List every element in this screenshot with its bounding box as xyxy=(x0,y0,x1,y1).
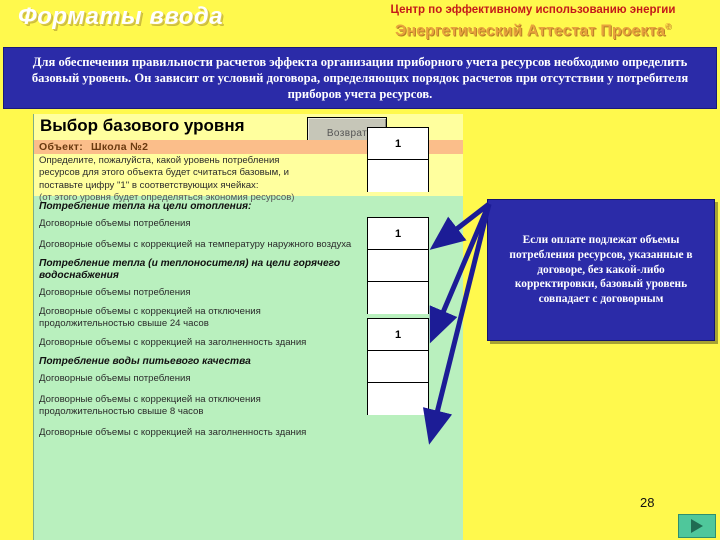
organization-name: Центр по эффективному использованию энер… xyxy=(352,4,714,16)
copyright-icon: © xyxy=(665,22,671,31)
value-cells-hot-water: 1 xyxy=(367,217,429,314)
slide-canvas: Форматы ввода Центр по эффективному испо… xyxy=(0,0,720,540)
group-row: Договорные объемы с коррекцией на отключ… xyxy=(34,386,364,419)
instruction-line: ресурсов для этого объекта будет считать… xyxy=(39,167,369,179)
group-row: Договорные объемы с коррекцией на заголн… xyxy=(34,419,364,440)
callout-text: Если оплате подлежат объемы потребления … xyxy=(488,233,714,307)
worksheet-title: Выбор базового уровня xyxy=(40,116,245,136)
callout-box: Если оплате подлежат объемы потребления … xyxy=(487,199,715,341)
value-cell[interactable]: 1 xyxy=(368,218,428,250)
group-row: Договорные объемы с коррекцией на отключ… xyxy=(34,300,364,331)
instruction-line: поставьте цифру "1" в соответствующих яч… xyxy=(39,180,369,192)
page-title: Форматы ввода xyxy=(18,3,223,31)
value-cell[interactable]: 1 xyxy=(368,128,428,160)
play-triangle-icon xyxy=(691,519,703,533)
object-label: Объект: xyxy=(34,141,83,153)
value-cell[interactable] xyxy=(368,250,428,282)
value-cell[interactable]: 1 xyxy=(368,319,428,351)
group-row: Договорные объемы с коррекцией на заголн… xyxy=(34,331,364,350)
product-name-text: Энергетический Аттестат Проекта xyxy=(395,22,665,39)
next-slide-button[interactable] xyxy=(678,514,716,538)
value-cell[interactable] xyxy=(368,383,428,415)
group-heading-hot-water: Потребление тепла (и теплоносителя) на ц… xyxy=(34,252,364,283)
value-cell[interactable] xyxy=(368,282,428,314)
value-cell[interactable] xyxy=(368,351,428,383)
group-row: Договорные объемы с коррекцией на темпер… xyxy=(34,231,364,252)
value-cells-heating: 1 xyxy=(367,127,429,192)
intro-banner: Для обеспечения правильности расчетов эф… xyxy=(3,47,717,109)
product-name: Энергетический Аттестат Проекта© xyxy=(352,22,714,40)
value-cells-drinking-water: 1 xyxy=(367,318,429,415)
group-heading-heating: Потребление тепла на цели отопления: xyxy=(34,196,463,214)
object-value: Школа №2 xyxy=(83,141,148,153)
intro-banner-text: Для обеспечения правильности расчетов эф… xyxy=(4,54,716,102)
value-cell[interactable] xyxy=(368,160,428,192)
page-number: 28 xyxy=(640,495,654,510)
instruction-line: Определите, пожалуйста, какой уровень по… xyxy=(39,155,369,167)
